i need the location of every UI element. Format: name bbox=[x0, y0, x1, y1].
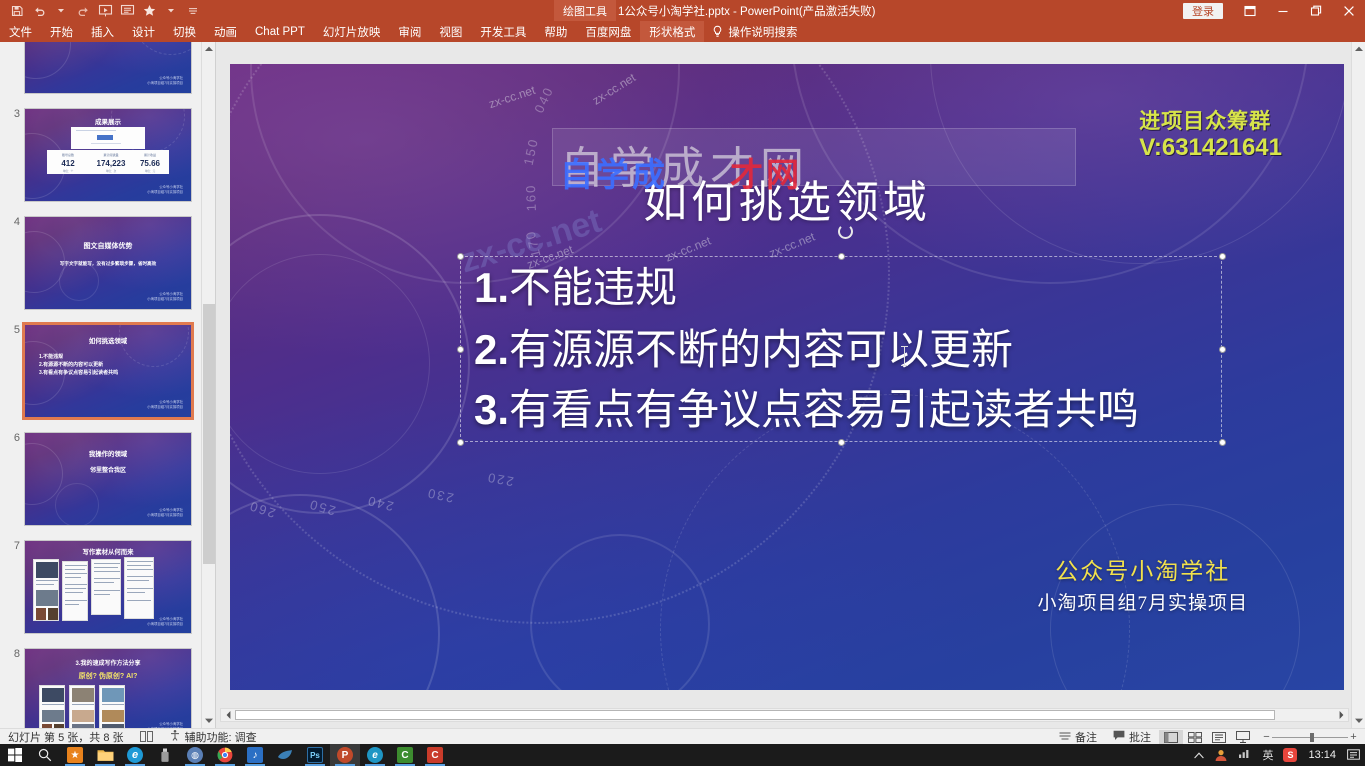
tray-chevron-icon[interactable] bbox=[1189, 744, 1209, 766]
selection-frame[interactable] bbox=[460, 256, 1222, 442]
thumbnail-row[interactable]: 7 写作素材从何而来 bbox=[0, 534, 202, 642]
resize-handle-e[interactable] bbox=[1219, 346, 1226, 353]
slide-sorter-icon[interactable] bbox=[1183, 730, 1207, 745]
usb-device-icon[interactable] bbox=[150, 744, 180, 766]
tell-me-label: 操作说明搜索 bbox=[728, 24, 797, 40]
thumb-subtitle: 邻里整合我区 bbox=[25, 465, 191, 474]
lightbulb-icon bbox=[712, 25, 723, 38]
scroll-left-icon[interactable] bbox=[221, 709, 235, 721]
zoom-knob[interactable] bbox=[1310, 733, 1314, 742]
slide-vertical-scrollbar[interactable] bbox=[1351, 42, 1365, 728]
thumb-subtitle: 原创? 伪原创? AI? bbox=[25, 671, 191, 681]
slide-branding[interactable]: 公众号小淘学社 小淘项目组7月实操项目 bbox=[1037, 555, 1248, 618]
ribbon-tab-animations[interactable]: 动画 bbox=[205, 21, 246, 42]
scroll-down-icon[interactable] bbox=[1352, 714, 1365, 728]
text-cursor bbox=[904, 346, 905, 366]
thumb-stat-3: 75.66 bbox=[135, 159, 165, 168]
status-bar: 幻灯片 第 5 张，共 8 张 辅助功能: 调查 备注 批注 bbox=[0, 728, 1365, 744]
thumb-body-line-2: 2.有源源不断的内容可以更新 bbox=[39, 361, 118, 369]
watermark-red-text: 才网 bbox=[730, 148, 802, 196]
comments-label: 批注 bbox=[1129, 729, 1151, 745]
thumbnail-scrollbar[interactable] bbox=[201, 42, 215, 728]
from-beginning-icon[interactable] bbox=[94, 1, 116, 20]
save-icon[interactable] bbox=[6, 1, 28, 20]
thumb-body-line-1: 1.不能违规 bbox=[39, 353, 118, 361]
thumb-footer-line2: 小淘项目组7月实操项目 bbox=[147, 297, 183, 302]
thumb-footer-line2: 小淘项目组7月实操项目 bbox=[147, 190, 183, 195]
leaf-app-icon[interactable] bbox=[270, 744, 300, 766]
promo-line-1: 进项目众筹群 bbox=[1139, 110, 1282, 134]
normal-view-icon[interactable] bbox=[1159, 730, 1183, 745]
thumbnail-row[interactable]: 4 图文自媒体优势 写字文字就能写，没有过多繁琐步骤，省时高效 公众号小淘学社 … bbox=[0, 210, 202, 318]
notes-label: 备注 bbox=[1075, 729, 1097, 745]
thumb-subtitle: 写字文字就能写，没有过多繁琐步骤，省时高效 bbox=[25, 261, 191, 267]
resize-handle-se[interactable] bbox=[1219, 439, 1226, 446]
ribbon-tab-home[interactable]: 开始 bbox=[41, 21, 82, 42]
rotation-handle[interactable] bbox=[838, 224, 853, 239]
reading-view-icon[interactable] bbox=[1207, 730, 1231, 745]
thumbnail-number: 6 bbox=[6, 432, 20, 444]
promo-line-2: V:631421641 bbox=[1139, 134, 1282, 162]
star-icon[interactable] bbox=[138, 1, 160, 20]
scroll-up-icon[interactable] bbox=[202, 42, 216, 56]
thumb-title: 写作素材从何而来 bbox=[25, 547, 191, 556]
zoom-slider[interactable]: − + bbox=[1255, 731, 1365, 743]
slide-thumbnail-8[interactable]: 3.我的速成写作方法分享 原创? 伪原创? AI? bbox=[24, 648, 192, 728]
promo-overlay: 进项目众筹群 V:631421641 bbox=[1139, 110, 1282, 162]
thumbnail-row[interactable]: 8 3.我的速成写作方法分享 原创? 伪原创? AI? bbox=[0, 642, 202, 728]
scrollbar-thumb[interactable] bbox=[203, 304, 215, 564]
window-controls: 登录 bbox=[1183, 0, 1365, 21]
office-blue-icon[interactable]: e bbox=[360, 744, 390, 766]
app-body: 2 公众号小淘学社 小淘项目组7月实操项目 bbox=[0, 42, 1365, 728]
thumb-title: 3.我的速成写作方法分享 bbox=[25, 658, 191, 667]
zoom-in-button[interactable]: + bbox=[1348, 731, 1359, 743]
notification-icon[interactable] bbox=[1342, 744, 1365, 766]
status-bar-right: 备注 批注 − + bbox=[1051, 729, 1365, 745]
ribbon-tab-help[interactable]: 帮助 bbox=[535, 21, 576, 42]
thumbnail-row[interactable]: 3 成果展示 账号总数 bbox=[0, 102, 202, 210]
thumb-footer-line2: 小淘项目组7月实操项目 bbox=[147, 81, 183, 86]
ribbon-tab-chat-ppt[interactable]: Chat PPT bbox=[246, 21, 314, 42]
system-tray: 英 S 13:14 bbox=[1189, 744, 1365, 766]
slide-edit-area[interactable]: 040 150 160 170 220 230 240 250 260 如何挑选… bbox=[216, 42, 1365, 728]
minimize-icon[interactable] bbox=[1266, 0, 1299, 21]
ribbon-tab-slideshow[interactable]: 幻灯片放映 bbox=[314, 21, 390, 42]
tray-app-icon[interactable] bbox=[1209, 744, 1233, 766]
window-title: 1公众号小淘学社.pptx - PowerPoint(产品激活失败) bbox=[618, 0, 876, 21]
slide-thumbnail-5[interactable]: 如何挑选领域 1.不能违规 2.有源源不断的内容可以更新 3.有看点有争议点容易… bbox=[22, 322, 194, 420]
start-slideshow-icon[interactable] bbox=[116, 1, 138, 20]
thumbnail-number: 8 bbox=[6, 648, 20, 660]
ime-indicator[interactable]: 英 bbox=[1257, 744, 1278, 766]
language-icon[interactable] bbox=[132, 731, 161, 742]
thumbnail-row[interactable]: 6 我操作的领域 邻里整合我区 公众号小淘学社 小淘项目组7月实操项目 bbox=[0, 426, 202, 534]
kugou-icon[interactable]: ♪ bbox=[240, 744, 270, 766]
thumb-stat-2: 174,223 bbox=[91, 159, 131, 168]
slide-thumbnail-7[interactable]: 写作素材从何而来 bbox=[24, 540, 192, 634]
slide-thumbnail-2[interactable]: 公众号小淘学社 小淘项目组7月实操项目 bbox=[24, 42, 192, 94]
resize-handle-n[interactable] bbox=[838, 253, 845, 260]
quick-access-toolbar[interactable] bbox=[0, 0, 204, 21]
watermark-blue-text: 自学成 bbox=[560, 148, 668, 196]
slide-thumbnail-4[interactable]: 图文自媒体优势 写字文字就能写，没有过多繁琐步骤，省时高效 公众号小淘学社 小淘… bbox=[24, 216, 192, 310]
thumb-footer-line2: 小淘项目组7月实操项目 bbox=[147, 622, 183, 627]
ribbon-tab-review[interactable]: 审阅 bbox=[389, 21, 430, 42]
accessibility-status[interactable]: 辅助功能: 调查 bbox=[161, 729, 265, 745]
ribbon-tab-insert[interactable]: 插入 bbox=[82, 21, 123, 42]
thumb-title: 图文自媒体优势 bbox=[25, 241, 191, 251]
thumb-body-line-3: 3.有看点有争议点容易引起读者共鸣 bbox=[39, 369, 118, 377]
edge-browser-icon[interactable]: e bbox=[120, 744, 150, 766]
ribbon-tab-strip[interactable]: 文件 开始 插入 设计 切换 动画 Chat PPT 幻灯片放映 审阅 视图 开… bbox=[0, 21, 1365, 42]
scroll-up-icon[interactable] bbox=[1352, 42, 1365, 56]
branding-line-1: 公众号小淘学社 bbox=[1037, 555, 1248, 590]
search-icon[interactable] bbox=[30, 744, 60, 766]
ribbon-tab-transitions[interactable]: 切换 bbox=[164, 21, 205, 42]
slide-thumbnail-6[interactable]: 我操作的领域 邻里整合我区 公众号小淘学社 小淘项目组7月实操项目 bbox=[24, 432, 192, 526]
slide-thumbnail-pane[interactable]: 2 公众号小淘学社 小淘项目组7月实操项目 bbox=[0, 42, 216, 728]
start-button[interactable] bbox=[0, 744, 30, 766]
comment-icon bbox=[1113, 730, 1125, 744]
scroll-right-icon[interactable] bbox=[1334, 709, 1348, 721]
notes-button[interactable]: 备注 bbox=[1051, 729, 1105, 745]
undo-icon[interactable] bbox=[28, 1, 50, 20]
customize-qat-icon[interactable] bbox=[182, 1, 204, 20]
thumb-title: 如何挑选领域 bbox=[25, 336, 191, 345]
sogou-input-icon[interactable]: S bbox=[1278, 744, 1302, 766]
resize-handle-sw[interactable] bbox=[457, 439, 464, 446]
qat-dropdown-icon[interactable] bbox=[160, 1, 182, 20]
file-explorer-icon[interactable] bbox=[90, 744, 120, 766]
thumbnail-number: 7 bbox=[6, 540, 20, 552]
tell-me-search[interactable]: 操作说明搜索 bbox=[704, 21, 805, 42]
ribbon-tab-shape-format[interactable]: 形状格式 bbox=[640, 21, 704, 42]
slideshow-icon[interactable] bbox=[1231, 730, 1255, 745]
zoom-out-button[interactable]: − bbox=[1261, 731, 1272, 743]
slide-counter[interactable]: 幻灯片 第 5 张，共 8 张 bbox=[0, 729, 132, 745]
taskbar-clock[interactable]: 13:14 bbox=[1302, 749, 1342, 761]
resize-handle-nw[interactable] bbox=[457, 253, 464, 260]
thumbnail-number: 4 bbox=[6, 216, 20, 228]
ribbon-tab-file[interactable]: 文件 bbox=[0, 21, 41, 42]
thumbnail-row[interactable]: 2 公众号小淘学社 小淘项目组7月实操项目 bbox=[0, 42, 202, 102]
horizontal-scrollbar[interactable] bbox=[220, 708, 1349, 722]
ribbon-tab-baidu-netdisk[interactable]: 百度网盘 bbox=[576, 21, 640, 42]
slide-thumbnail-list: 2 公众号小淘学社 小淘项目组7月实操项目 bbox=[0, 42, 202, 728]
branding-line-2: 小淘项目组7月实操项目 bbox=[1037, 590, 1248, 619]
resize-handle-w[interactable] bbox=[457, 346, 464, 353]
title-bar: 绘图工具 1公众号小淘学社.pptx - PowerPoint(产品激活失败) … bbox=[0, 0, 1365, 21]
thumbnail-number: 5 bbox=[6, 324, 20, 336]
photoshop-icon[interactable]: Ps bbox=[300, 744, 330, 766]
excel-green-icon[interactable]: C bbox=[390, 744, 420, 766]
scroll-down-icon[interactable] bbox=[202, 714, 216, 728]
restore-icon[interactable] bbox=[1299, 0, 1332, 21]
thumb-stat-1: 412 bbox=[51, 159, 85, 168]
c-red-icon[interactable]: C bbox=[420, 744, 450, 766]
ribbon-tab-developer[interactable]: 开发工具 bbox=[471, 21, 535, 42]
close-icon[interactable] bbox=[1332, 0, 1365, 21]
tray-net-icon[interactable] bbox=[1233, 744, 1257, 766]
thumb-title: 我操作的领域 bbox=[25, 449, 191, 458]
resize-handle-ne[interactable] bbox=[1219, 253, 1226, 260]
thumb-footer-line2: 小淘项目组7月实操项目 bbox=[147, 513, 183, 518]
wechat-pc-icon[interactable]: ◍ bbox=[180, 744, 210, 766]
chrome-browser-icon[interactable] bbox=[210, 744, 240, 766]
redo-icon[interactable] bbox=[72, 1, 94, 20]
powerpoint-icon[interactable]: P bbox=[330, 744, 360, 766]
comments-button[interactable]: 批注 bbox=[1105, 729, 1159, 745]
windows-taskbar: ★ e ◍ ♪ Ps P e C bbox=[0, 744, 1365, 766]
thumbnail-number: 3 bbox=[6, 108, 20, 120]
resize-handle-s[interactable] bbox=[838, 439, 845, 446]
contextual-tab-drawing-tools[interactable]: 绘图工具 bbox=[554, 0, 616, 21]
accessibility-icon bbox=[169, 729, 181, 744]
thumb-footer-line2: 小淘项目组7月实操项目 bbox=[147, 405, 183, 410]
current-slide[interactable]: 040 150 160 170 220 230 240 250 260 如何挑选… bbox=[230, 64, 1344, 690]
horizontal-scrollbar-thumb[interactable] bbox=[235, 710, 1275, 720]
taskview-star-icon[interactable]: ★ bbox=[60, 744, 90, 766]
accessibility-label: 辅助功能: 调查 bbox=[185, 729, 257, 745]
ribbon-tab-view[interactable]: 视图 bbox=[430, 21, 471, 42]
sign-in-button[interactable]: 登录 bbox=[1183, 3, 1223, 19]
ribbon-tab-design[interactable]: 设计 bbox=[123, 21, 164, 42]
zoom-track[interactable] bbox=[1272, 737, 1348, 738]
notes-icon bbox=[1059, 731, 1071, 744]
slide-thumbnail-3[interactable]: 成果展示 账号总数 累计阅读量 累计收益 412 bbox=[24, 108, 192, 202]
thumb-title: 成果展示 bbox=[25, 116, 191, 126]
thumbnail-row-selected[interactable]: 5 如何挑选领域 1.不能违规 2.有源源不断的内容可以更新 3.有看点有争议点… bbox=[0, 318, 202, 426]
undo-dropdown-icon[interactable] bbox=[50, 1, 72, 20]
ribbon-display-options-icon[interactable] bbox=[1233, 0, 1266, 21]
